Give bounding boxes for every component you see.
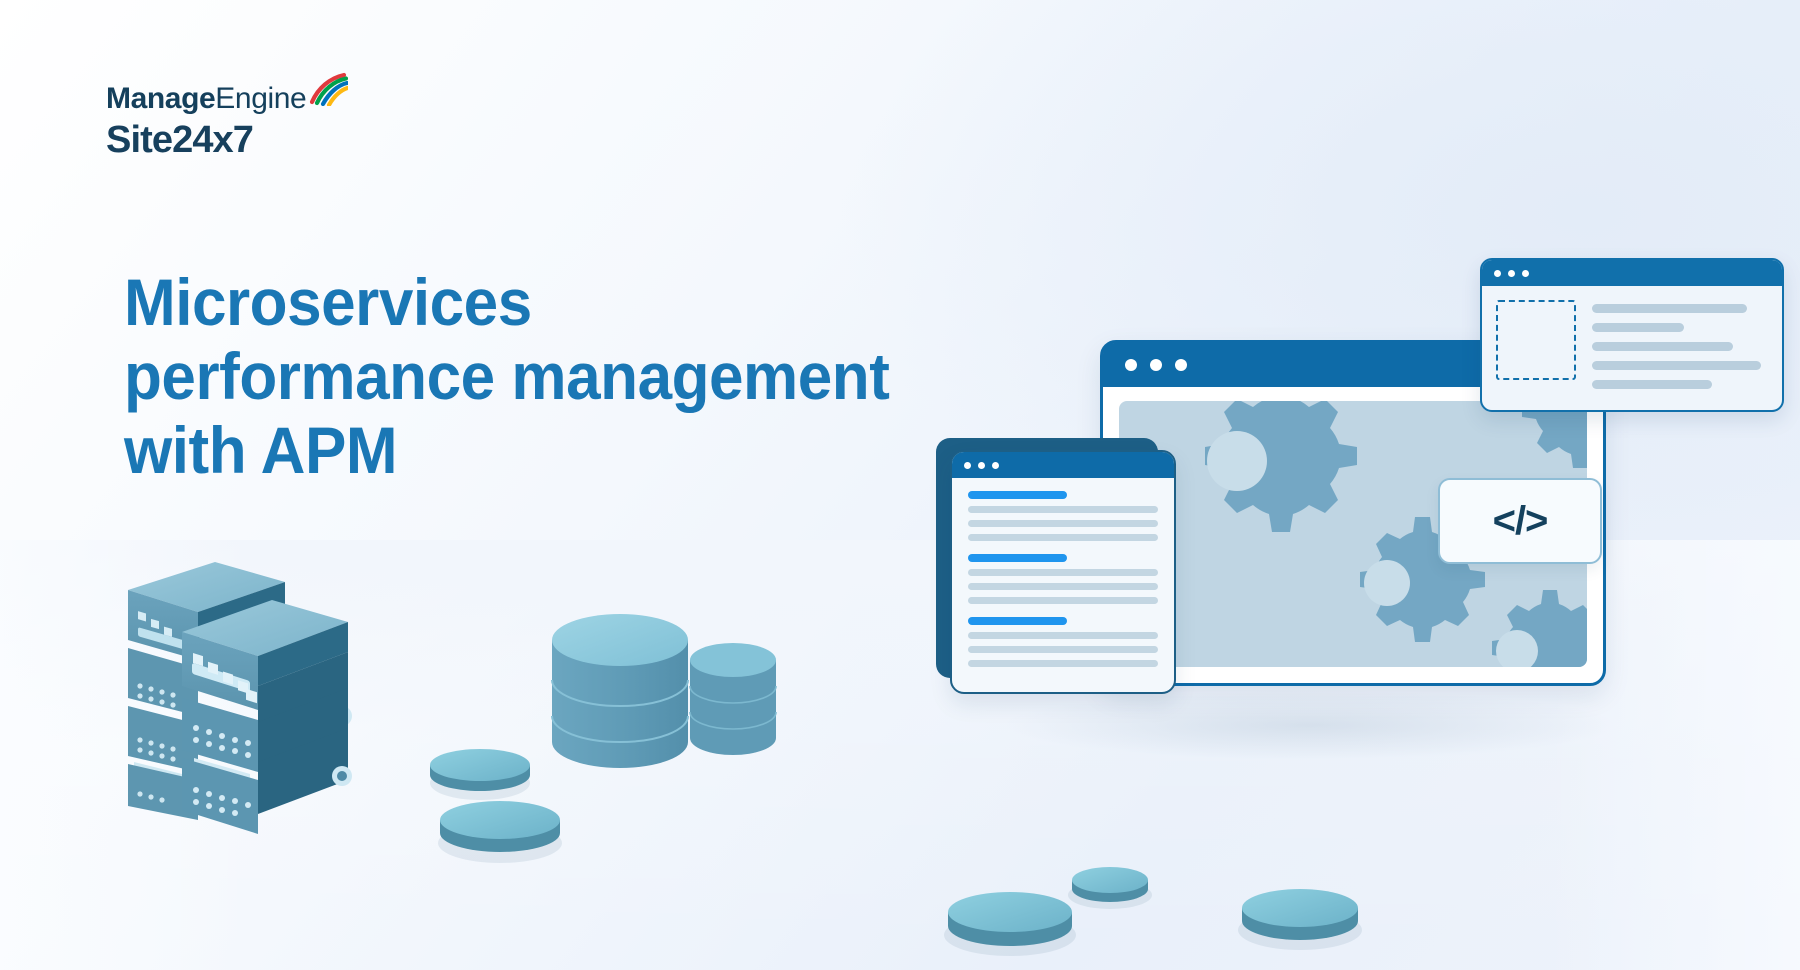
text-line bbox=[968, 660, 1158, 667]
window-dot-icon bbox=[978, 462, 985, 469]
browser-window-document[interactable] bbox=[950, 450, 1176, 694]
content-group bbox=[968, 491, 1158, 541]
page-title: Microservices performance management wit… bbox=[124, 266, 1064, 488]
text-line bbox=[968, 583, 1158, 590]
text-line bbox=[1592, 361, 1761, 370]
manageengine-text: ManageEngine bbox=[106, 84, 306, 114]
window-dot-icon bbox=[964, 462, 971, 469]
window-dot-icon bbox=[1175, 359, 1187, 371]
manageengine-swoosh-icon bbox=[308, 72, 348, 106]
group-heading-bar bbox=[968, 617, 1067, 625]
server-rack-front bbox=[182, 600, 352, 834]
group-heading-bar bbox=[968, 491, 1067, 499]
headline-line-3: with APM bbox=[124, 414, 1064, 488]
text-lines bbox=[1592, 300, 1768, 389]
window-dot-icon bbox=[1522, 270, 1529, 277]
headline-line-1: Microservices bbox=[124, 266, 1064, 340]
text-line bbox=[1592, 380, 1712, 389]
manageengine-wordmark: ManageEngine bbox=[106, 84, 348, 114]
text-line bbox=[968, 534, 1158, 541]
window-titlebar bbox=[952, 452, 1174, 478]
database-large bbox=[552, 614, 688, 768]
content-group bbox=[968, 617, 1158, 667]
window-body bbox=[952, 478, 1174, 680]
database-small bbox=[690, 643, 776, 755]
hero-banner: ManageEngine Site24x7 Microservices perf… bbox=[0, 0, 1800, 970]
headline-line-2: performance management bbox=[124, 340, 1064, 414]
window-body bbox=[1482, 286, 1782, 399]
window-dot-icon bbox=[1125, 359, 1137, 371]
text-line bbox=[968, 646, 1158, 653]
browser-window-placeholder[interactable] bbox=[1480, 258, 1784, 412]
window-dot-icon bbox=[1508, 270, 1515, 277]
window-dot-icon bbox=[1494, 270, 1501, 277]
text-line bbox=[1592, 342, 1733, 351]
group-heading-bar bbox=[968, 554, 1067, 562]
window-dot-icon bbox=[992, 462, 999, 469]
text-line bbox=[1592, 323, 1684, 332]
text-line bbox=[968, 569, 1158, 576]
brand-engine: Engine bbox=[215, 82, 306, 115]
text-line bbox=[968, 597, 1158, 604]
content-group bbox=[968, 554, 1158, 604]
text-line bbox=[968, 506, 1158, 513]
image-placeholder-icon bbox=[1496, 300, 1576, 380]
apm-illustration: </> bbox=[1060, 280, 1700, 750]
server-rack-stack bbox=[120, 500, 420, 840]
site24x7-wordmark: Site24x7 bbox=[106, 121, 348, 159]
database-cylinders bbox=[540, 600, 880, 820]
text-line bbox=[968, 632, 1158, 639]
code-snippet-icon: </> bbox=[1438, 478, 1602, 564]
brand-logo[interactable]: ManageEngine Site24x7 bbox=[106, 84, 348, 159]
text-line bbox=[1592, 304, 1747, 313]
text-line bbox=[968, 520, 1158, 527]
window-dot-icon bbox=[1150, 359, 1162, 371]
brand-manage: Manage bbox=[106, 82, 215, 115]
server-racks-icon bbox=[120, 500, 420, 840]
window-titlebar bbox=[1482, 260, 1782, 286]
database-icon bbox=[540, 600, 880, 820]
